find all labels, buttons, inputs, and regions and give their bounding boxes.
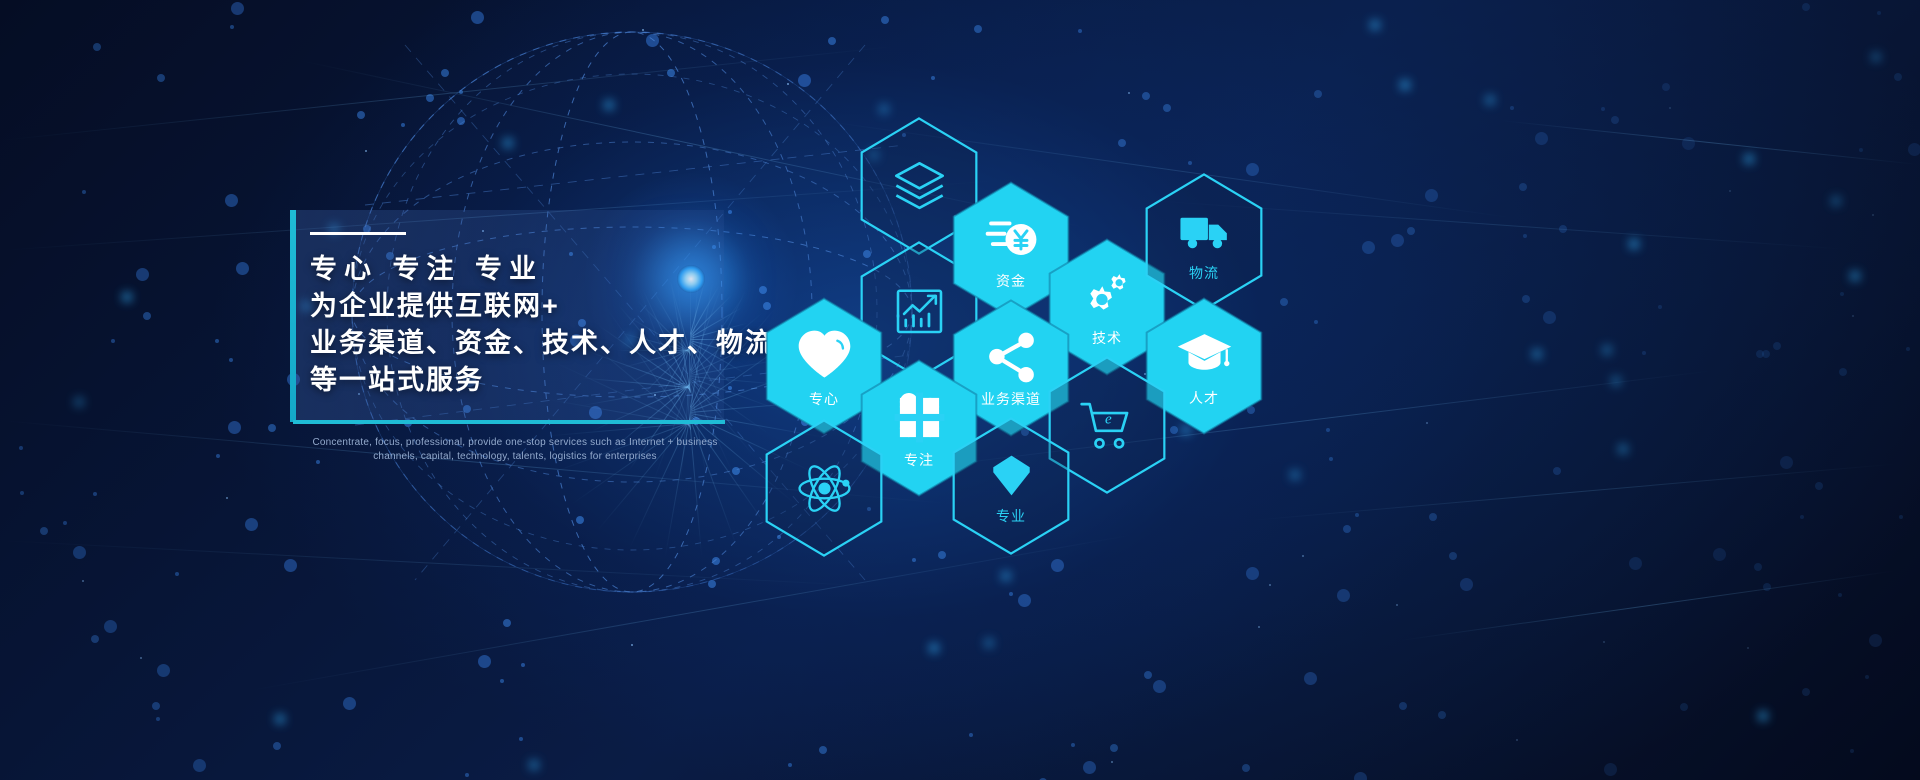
shopping-cart-e-icon: e	[1079, 397, 1136, 454]
chart-growth-icon	[892, 283, 947, 338]
gears-icon	[1080, 269, 1135, 324]
four-petal-icon	[891, 389, 948, 446]
svg-text:e: e	[1105, 411, 1112, 427]
atom-icon	[796, 460, 853, 517]
yen-coin-icon	[984, 212, 1039, 267]
layers-icon	[891, 158, 948, 215]
hexagon-label: 业务渠道	[981, 392, 1041, 406]
hexagon-atom[interactable]	[763, 418, 885, 558]
graduation-cap-icon	[1176, 327, 1233, 384]
hexagon-label: 技术	[1092, 331, 1122, 345]
hexagon-label: 专业	[996, 509, 1026, 523]
hexagon-pro[interactable]: 专业	[950, 416, 1072, 556]
diamond-icon	[985, 449, 1038, 502]
hexagon-label: 资金	[996, 274, 1026, 288]
hexagon-cluster: 资金技术物流人才业务渠道专心专注e专业	[0, 0, 1920, 780]
hexagon-logistics[interactable]: 物流	[1143, 172, 1265, 312]
hexagon-content: 物流	[1143, 172, 1265, 312]
hexagon-label: 专心	[809, 392, 839, 406]
hero-banner: 专心 专注 专业 为企业提供互联网+ 业务渠道、资金、技术、人才、物流 等一站式…	[0, 0, 1920, 780]
heart-icon	[795, 326, 854, 385]
hexagon-content	[763, 418, 885, 558]
truck-icon	[1177, 204, 1232, 259]
hexagon-label: 专注	[904, 453, 934, 467]
hexagon-content: 专业	[950, 416, 1072, 556]
share-nodes-icon	[984, 330, 1039, 385]
hexagon-label: 人才	[1189, 391, 1219, 405]
hexagon-label: 物流	[1189, 266, 1219, 280]
